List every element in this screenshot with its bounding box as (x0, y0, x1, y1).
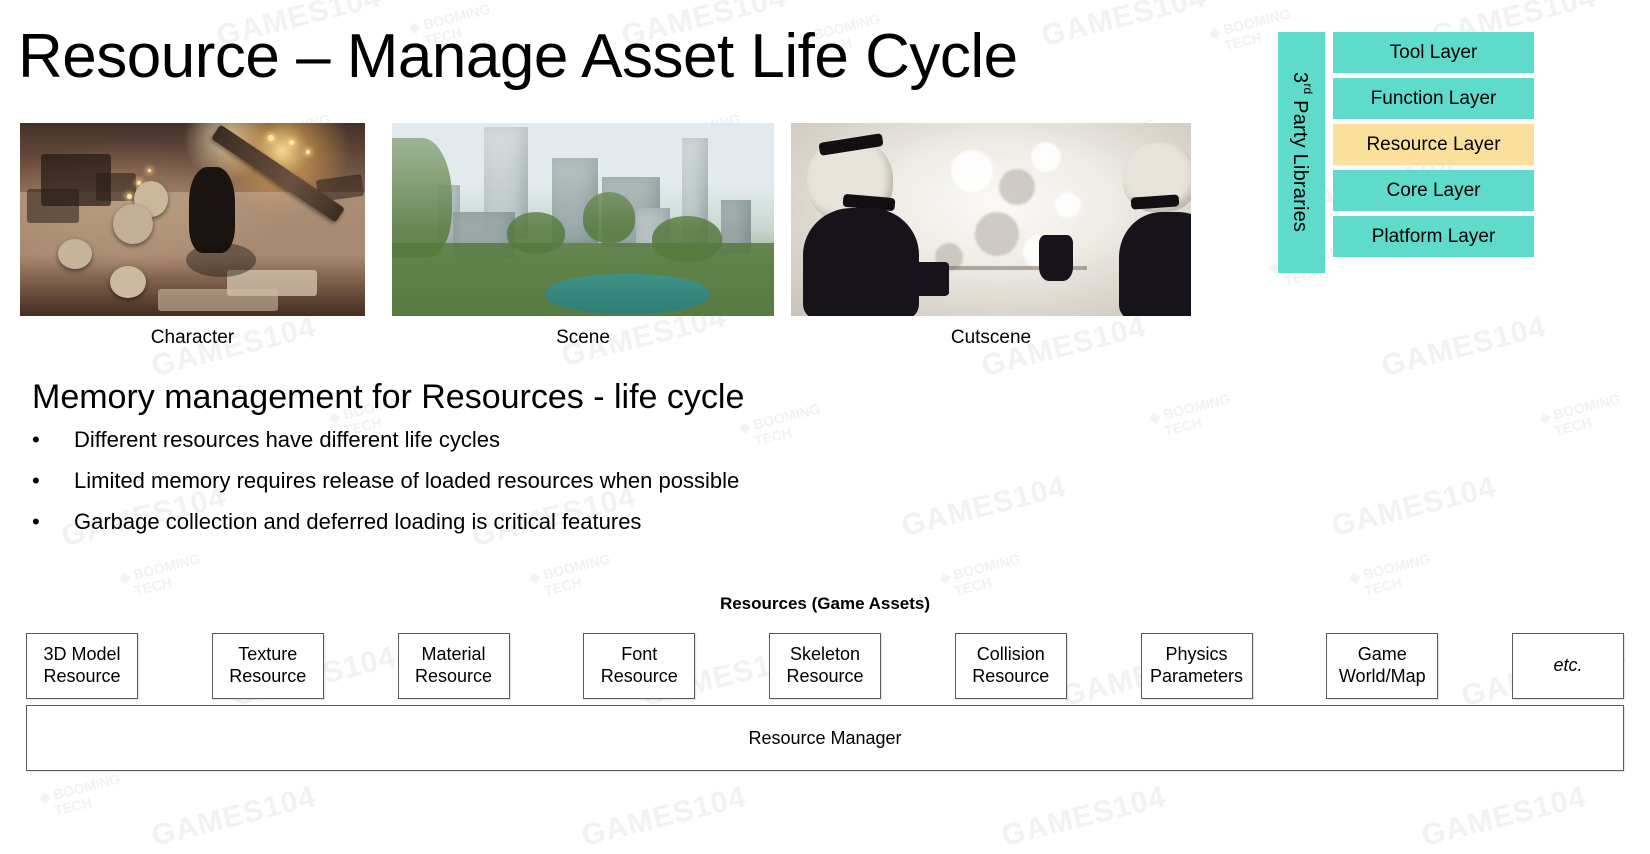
resource-box-line2: Resource (601, 666, 678, 686)
resource-box-line1: Collision (977, 644, 1045, 664)
resource-box-line2: Resource (43, 666, 120, 686)
watermark-text: GAMES104 (578, 780, 749, 854)
resource-box-line1: Game (1358, 644, 1407, 664)
section-heading: Memory management for Resources - life c… (32, 378, 744, 417)
resource-box-3d-model[interactable]: 3D Model Resource (26, 633, 138, 699)
watermark-text: ◈ BOOMING TECH (1537, 390, 1625, 441)
resource-box-line1: Texture (238, 644, 297, 664)
bullet-text: Different resources have different life … (74, 428, 500, 451)
layer-function[interactable]: Function Layer (1333, 78, 1534, 119)
resource-box-line2: Resource (415, 666, 492, 686)
watermark-text: ◈ BOOMING TECH (737, 400, 825, 451)
resource-box-line1: etc. (1553, 655, 1582, 675)
layer-core[interactable]: Core Layer (1333, 170, 1534, 211)
watermark-text: GAMES104 (1038, 0, 1209, 54)
resource-manager-label: Resource Manager (748, 728, 901, 749)
resource-box-line1: Font (621, 644, 657, 664)
thumbnail-scene: Scene (392, 123, 774, 349)
resource-box-physics[interactable]: Physics Parameters (1141, 633, 1253, 699)
third-party-prefix: 3 (1289, 72, 1311, 83)
thumbnail-caption: Scene (392, 327, 774, 349)
resource-box-line1: Physics (1165, 644, 1227, 664)
resource-box-skeleton[interactable]: Skeleton Resource (769, 633, 881, 699)
thumbnail-cutscene: Cutscene (791, 123, 1191, 349)
bullet-list: • Different resources have different lif… (32, 428, 739, 551)
resource-box-etc[interactable]: etc. (1512, 633, 1624, 699)
watermark-text: GAMES104 (898, 470, 1069, 544)
thumbnail-character: Character (20, 123, 365, 349)
bullet-text: Garbage collection and deferred loading … (74, 510, 641, 533)
third-party-ordinal-suffix: rd (1301, 84, 1315, 95)
scene-image (392, 123, 774, 316)
third-party-libraries-panel: 3rd Party Libraries (1278, 32, 1325, 273)
layer-tool[interactable]: Tool Layer (1333, 32, 1534, 73)
bullet-marker: • (32, 510, 74, 533)
layer-list: Tool Layer Function Layer Resource Layer… (1333, 32, 1534, 257)
bullet-item: • Limited memory requires release of loa… (32, 469, 739, 492)
thumbnail-caption: Character (20, 327, 365, 349)
resource-manager-bar[interactable]: Resource Manager (26, 705, 1624, 771)
layer-resource[interactable]: Resource Layer (1333, 124, 1534, 165)
resource-box-line1: 3D Model (43, 644, 120, 664)
watermark-text: GAMES104 (998, 780, 1169, 854)
third-party-main-label: Party Libraries (1289, 101, 1311, 233)
watermark-text: GAMES104 (1378, 310, 1549, 384)
resource-box-line2: Parameters (1150, 666, 1243, 686)
resource-box-line2: World/Map (1339, 666, 1426, 686)
layer-label: Resource Layer (1366, 134, 1500, 156)
layer-label: Function Layer (1371, 88, 1497, 110)
watermark-text: GAMES104 (1418, 780, 1589, 854)
bullet-item: • Different resources have different lif… (32, 428, 739, 451)
watermark-text: GAMES104 (1328, 470, 1499, 544)
thumbnail-caption: Cutscene (791, 327, 1191, 349)
resource-box-texture[interactable]: Texture Resource (212, 633, 324, 699)
resource-box-game-world[interactable]: Game World/Map (1326, 633, 1438, 699)
watermark-text: GAMES104 (148, 780, 319, 854)
resources-group-label: Resources (Game Assets) (0, 594, 1650, 614)
third-party-libraries-label: 3rd Party Libraries (1288, 72, 1315, 232)
resource-box-collision[interactable]: Collision Resource (955, 633, 1067, 699)
watermark-text: ◈ BOOMING TECH (37, 770, 125, 821)
resource-box-font[interactable]: Font Resource (583, 633, 695, 699)
layer-label: Platform Layer (1372, 226, 1496, 248)
cutscene-image (791, 123, 1191, 316)
resource-box-material[interactable]: Material Resource (398, 633, 510, 699)
page-title: Resource – Manage Asset Life Cycle (18, 24, 1018, 89)
bullet-item: • Garbage collection and deferred loadin… (32, 510, 739, 533)
layer-label: Tool Layer (1390, 42, 1478, 64)
resource-box-line2: Resource (229, 666, 306, 686)
bullet-marker: • (32, 428, 74, 451)
bullet-marker: • (32, 469, 74, 492)
watermark-text: ◈ BOOMING TECH (1147, 390, 1235, 441)
resource-box-line2: Resource (786, 666, 863, 686)
resource-box-line1: Skeleton (790, 644, 860, 664)
character-image (20, 123, 365, 316)
engine-architecture-stack: 3rd Party Libraries Tool Layer Function … (1278, 32, 1534, 273)
layer-label: Core Layer (1387, 180, 1481, 202)
resource-box-line2: Resource (972, 666, 1049, 686)
resource-boxes-row: 3D Model Resource Texture Resource Mater… (26, 633, 1624, 699)
bullet-text: Limited memory requires release of loade… (74, 469, 739, 492)
resource-box-line1: Material (421, 644, 485, 664)
layer-platform[interactable]: Platform Layer (1333, 216, 1534, 257)
